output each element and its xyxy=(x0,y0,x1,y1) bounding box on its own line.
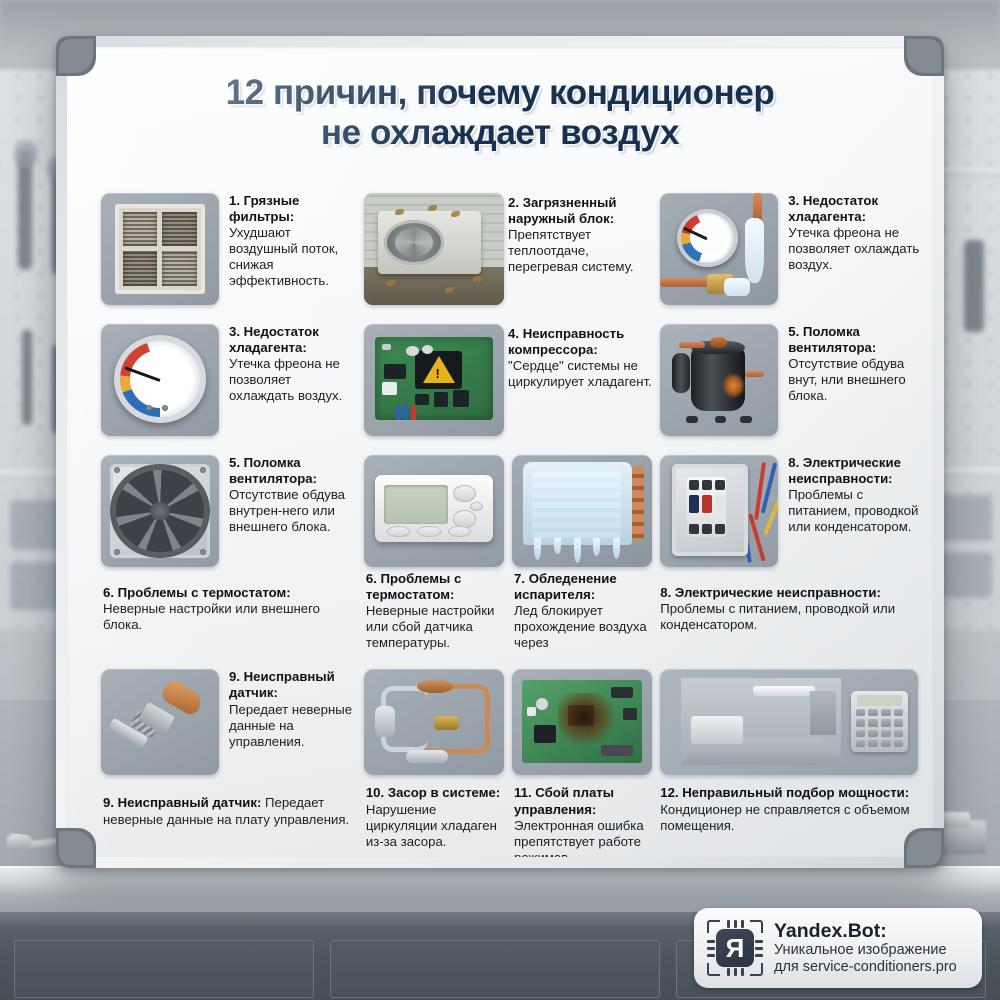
wrench-icon xyxy=(18,150,32,270)
thermostat-body xyxy=(375,475,493,542)
reason-text-2[interactable]: 2. Загрязненный наружный блок: Препятств… xyxy=(508,193,656,313)
capacitor xyxy=(536,698,548,710)
switch-lever[interactable] xyxy=(715,495,725,513)
terminal xyxy=(702,480,712,490)
chip-pin xyxy=(734,968,737,976)
chip-pin xyxy=(707,947,715,950)
reason-cell-7[interactable]: 7. Обледенение испарителя: Лед блокирует… xyxy=(508,455,656,651)
reason-cell-3b[interactable]: 3. Недостаток хладагента: Утечка фреона … xyxy=(97,324,360,444)
screwdriver-icon xyxy=(22,330,32,425)
cabinet-drawer xyxy=(330,940,660,998)
caption-heading: 6. Проблемы с термостатом: xyxy=(103,585,291,600)
mode-button[interactable] xyxy=(448,526,472,537)
connector xyxy=(382,344,391,350)
board-surface: 12 причин, почему кондиционер не охлажда… xyxy=(67,47,933,857)
fan-opening xyxy=(110,464,209,558)
ic-chip xyxy=(384,364,405,379)
grid-row-1: 1. Грязные фильтры: Ухудшают воздушный п… xyxy=(97,193,925,313)
yandex-bot-watermark: Я Yandex.Bot: Уникальное изображение для… xyxy=(694,908,982,988)
mount-screw xyxy=(114,549,120,555)
caption-heading: 10. Засор в системе: xyxy=(366,785,500,800)
calculator-key[interactable] xyxy=(881,709,891,716)
caption-body: Нарушение циркуляции хладаген из-за засо… xyxy=(366,802,497,849)
caption-body: Неверные настройки или сбой датчика темп… xyxy=(366,603,495,650)
caption-body: Проблемы с питанием, проводкой или конде… xyxy=(660,601,895,632)
reason-cell-6[interactable]: 6. Проблемы с термостатом: Неверные наст… xyxy=(360,455,508,651)
caption-heading: 9. Неисправный датчик: xyxy=(103,795,261,810)
calculator-key[interactable] xyxy=(856,719,866,726)
ic-chip xyxy=(434,392,448,407)
room-sizing-calculator-image xyxy=(660,669,918,775)
wire-red xyxy=(749,514,766,562)
mode-button[interactable] xyxy=(387,526,411,537)
filter-pane xyxy=(123,212,157,246)
reason-body: Проблемы с питанием, проводкой или конде… xyxy=(788,487,921,535)
calculator-key[interactable] xyxy=(881,730,891,737)
watermark-line-1: Уникальное изображение xyxy=(774,942,957,959)
thermostat-image xyxy=(364,455,504,567)
connector xyxy=(527,707,537,717)
reason-cell-8[interactable]: 8. Электрические неисправности: Проблемы… xyxy=(656,455,925,651)
switch-lever[interactable] xyxy=(702,495,712,513)
caption-body: Лед блокирует прохождение воздуха через xyxy=(514,603,647,650)
calculator-key[interactable] xyxy=(856,709,866,716)
terminal xyxy=(702,524,712,534)
reason-caption-11[interactable]: 11. Сбой платы управления: Электронная о… xyxy=(508,775,656,857)
reasons-grid: 1. Грязные фильтры: Ухудшают воздушный п… xyxy=(97,193,925,857)
reason-body: Отсутствие обдува внут, нли внешнего бло… xyxy=(788,356,921,404)
reason-body: Утечка фреона не позволяет охлаждать воз… xyxy=(229,356,356,404)
connector xyxy=(623,708,637,720)
frost-buildup xyxy=(745,218,764,283)
wire-blue xyxy=(396,405,401,420)
title-line-2: не охлаждает воздух xyxy=(67,113,933,153)
board-corner xyxy=(904,828,944,868)
yandex-bot-logo-icon: Я xyxy=(707,920,763,976)
chip-pin xyxy=(741,968,744,976)
compressor-foot xyxy=(686,416,698,423)
chip-pin xyxy=(727,920,730,928)
board-corner xyxy=(56,36,96,76)
dirty-outdoor-unit-image xyxy=(364,193,504,305)
title-line-1: 12 причин, почему кондиционер xyxy=(226,73,775,112)
workshop-scene: 12 причин, почему кондиционер не охлажда… xyxy=(0,0,1000,1000)
calculator-key[interactable] xyxy=(894,709,904,716)
reason-cell-5b[interactable]: 5. Поломка вентилятора: Отсутствие обдув… xyxy=(97,455,360,651)
chip-pin xyxy=(734,920,737,928)
reason-body: Препятствует теплоотдаче, перегревая сис… xyxy=(508,227,656,275)
calculator-key[interactable] xyxy=(894,740,904,747)
reason-caption-12[interactable]: 12. Неправильный подбор мощности: Кондиц… xyxy=(656,775,925,833)
service-valve xyxy=(434,716,459,730)
reason-caption-6-full[interactable]: 6. Проблемы с термостатом: Неверные наст… xyxy=(360,567,508,651)
reason-heading: 8. Электрические неисправности: xyxy=(788,455,921,486)
watermark-line-2: для service-conditioners.pro xyxy=(774,959,957,976)
wire-blue xyxy=(403,405,408,420)
frost-buildup xyxy=(724,278,750,296)
breaker-module xyxy=(687,477,726,538)
caption-heading: 11. Сбой платы управления: xyxy=(514,785,614,816)
compressor-foot xyxy=(715,416,727,423)
caption-body: Кондиционер не справляется с объемом пом… xyxy=(660,802,909,833)
reason-cell-12[interactable]: 12. Неправильный подбор мощности: Кондиц… xyxy=(656,669,925,857)
icicle xyxy=(593,538,600,556)
burn-damage xyxy=(558,693,616,746)
calculator-keypad[interactable] xyxy=(856,709,904,747)
connector xyxy=(382,382,397,395)
reason-heading: 3. Недостаток хладагента: xyxy=(229,324,356,355)
gauge-needle xyxy=(125,366,161,381)
copper-coil-pipe xyxy=(632,466,643,540)
compressor-burnt-image xyxy=(660,324,778,436)
calculator[interactable] xyxy=(851,691,908,752)
warning-triangle-icon xyxy=(423,356,455,383)
temperature-sensor-probe-image xyxy=(101,669,219,775)
reason-cell-11[interactable]: 11. Сбой платы управления: Электронная о… xyxy=(508,669,656,857)
reason-heading: 2. Загрязненный наружный блок: xyxy=(508,195,656,226)
gauge-screw xyxy=(162,405,168,411)
outdoor-unit-body xyxy=(378,211,482,274)
calculator-key[interactable] xyxy=(881,719,891,726)
fan-grille xyxy=(384,220,444,265)
burnt-control-board-image xyxy=(512,669,652,775)
reason-body: "Сердце" системы не циркулирует хладаген… xyxy=(508,358,656,390)
breaker-switches[interactable] xyxy=(689,495,725,513)
reason-caption-10[interactable]: 10. Засор в системе: Нарушение циркуляци… xyxy=(360,775,508,849)
copper-pipe xyxy=(745,371,764,377)
filter-drier xyxy=(375,706,395,738)
calculator-key[interactable] xyxy=(894,730,904,737)
icicle xyxy=(574,538,581,563)
calculator-key[interactable] xyxy=(868,719,878,726)
yandex-letter: Я xyxy=(716,929,754,967)
leaf xyxy=(395,209,404,215)
door xyxy=(810,691,836,736)
dirty-air-filter-image xyxy=(101,193,219,305)
calculator-key[interactable] xyxy=(894,719,904,726)
reason-caption-6[interactable]: 6. Проблемы с термостатом: Неверные наст… xyxy=(97,575,360,633)
calculator-key[interactable] xyxy=(868,740,878,747)
terminal xyxy=(689,480,699,490)
fan-hub xyxy=(150,502,170,521)
copper-ring xyxy=(710,337,728,347)
reason-caption-7[interactable]: 7. Обледенение испарителя: Лед блокирует… xyxy=(508,567,656,651)
outdoor-unit xyxy=(691,716,743,744)
capacitor xyxy=(406,346,419,357)
mount-screw xyxy=(200,549,206,555)
indoor-unit xyxy=(753,686,815,696)
reason-body: Утечка фреона не позволяет охлаждать воз… xyxy=(788,225,921,273)
terminal xyxy=(715,524,725,534)
watermark-text: Yandex.Bot: Уникальное изображение для s… xyxy=(774,920,957,976)
circuit-breaker-panel-image xyxy=(660,455,778,567)
board-corner xyxy=(904,36,944,76)
accumulator xyxy=(406,750,448,763)
wrench-icon xyxy=(14,140,38,168)
down-button[interactable] xyxy=(453,510,477,527)
gauge-dial xyxy=(677,209,738,267)
pcb xyxy=(522,680,642,763)
thermostat-screen xyxy=(384,485,448,524)
chip-pin xyxy=(755,947,763,950)
reason-cell-1[interactable]: 1. Грязные фильтры: Ухудшают воздушный п… xyxy=(97,193,360,313)
icicle xyxy=(534,538,541,560)
reason-image-2[interactable] xyxy=(360,193,508,313)
grid-row-2: 3. Недостаток хладагента: Утечка фреона … xyxy=(97,324,925,444)
reason-cell-10[interactable]: 10. Засор в системе: Нарушение циркуляци… xyxy=(360,669,508,857)
calculator-key[interactable] xyxy=(881,740,891,747)
reason-body: Ухудшают воздушный поток, снижая эффекти… xyxy=(229,225,356,289)
terminal xyxy=(689,524,699,534)
caption-heading: 6. Проблемы с термостатом: xyxy=(366,571,461,602)
caption-body: Электронная ошибка препятствует работе р… xyxy=(514,818,644,857)
wire-red xyxy=(411,405,416,420)
reason-heading: 5. Поломка вентилятора: xyxy=(788,324,921,355)
icicle xyxy=(613,538,620,559)
calculator-key[interactable] xyxy=(868,730,878,737)
breaker-terminals xyxy=(689,480,725,490)
control-board-warning-image xyxy=(364,324,504,436)
reason-heading: 1. Грязные фильтры: xyxy=(229,193,356,224)
reason-caption-8[interactable]: 8. Электрические неисправности: Проблемы… xyxy=(656,575,925,633)
reason-cell-5[interactable]: 5. Поломка вентилятора: Отсутствие обдув… xyxy=(656,324,925,444)
gauge-needle xyxy=(684,227,708,240)
reason-caption-9[interactable]: 9. Неисправный датчик: Передает неверные… xyxy=(97,783,360,827)
whiteboard: 12 причин, почему кондиционер не охлажда… xyxy=(56,36,944,868)
bracket-corner xyxy=(750,963,763,976)
refrigerant-circuit-loop-image xyxy=(364,669,504,775)
filter-pane xyxy=(123,251,157,285)
caption-heading: 8. Электрические неисправности: xyxy=(660,585,881,600)
indicator-dot xyxy=(470,502,483,511)
cabinet-drawer xyxy=(14,940,314,998)
mode-button[interactable] xyxy=(417,526,441,537)
burn-mark xyxy=(722,373,746,398)
compressor-foot xyxy=(740,416,752,423)
chip-pin xyxy=(727,968,730,976)
calculator-key[interactable] xyxy=(868,709,878,716)
copper-pipe xyxy=(679,342,705,348)
filter-frame xyxy=(115,204,205,294)
accumulator xyxy=(672,353,690,393)
reason-heading: 3. Недостаток хладагента: xyxy=(788,193,921,224)
grid-row-4: 9. Неисправный датчик: Передает неверные… xyxy=(97,669,925,857)
chip-pin xyxy=(755,954,763,957)
chip-pin xyxy=(707,954,715,957)
reason-heading: 9. Неисправный датчик: xyxy=(229,669,356,700)
manometer-dial-image xyxy=(101,324,219,436)
gauge-screw xyxy=(146,405,152,411)
caption-heading: 7. Обледенение испарителя: xyxy=(514,571,617,602)
caption-heading: 12. Неправильный подбор мощности: xyxy=(660,785,909,800)
connector-pins xyxy=(601,745,632,757)
reason-cell-9[interactable]: 9. Неисправный датчик: Передает неверные… xyxy=(97,669,360,857)
calculator-key[interactable] xyxy=(856,740,866,747)
ic-chip xyxy=(534,725,556,743)
calculator-display xyxy=(857,695,902,706)
filter-pane xyxy=(162,212,196,246)
page-title: 12 причин, почему кондиционер не охлажда… xyxy=(67,47,933,153)
filter-pane xyxy=(162,251,196,285)
reason-image-4[interactable] xyxy=(360,324,508,444)
terminal xyxy=(715,480,725,490)
calculator-key[interactable] xyxy=(856,730,866,737)
axial-fan-image xyxy=(101,455,219,567)
board-corner xyxy=(56,828,96,868)
reason-text-4[interactable]: 4. Неисправность компрессора: "Сердце" с… xyxy=(508,324,656,444)
reason-body: Отсутствие обдува внутрен-него или внешн… xyxy=(229,487,356,535)
up-button[interactable] xyxy=(453,485,477,502)
ic-chip xyxy=(415,394,429,406)
chip-pin xyxy=(755,940,763,943)
ice-layer xyxy=(523,462,632,545)
sight-glass xyxy=(417,680,453,693)
frozen-evaporator-coil-image xyxy=(512,455,652,567)
reason-heading: 5. Поломка вентилятора: xyxy=(229,455,356,486)
grid-row-3: 5. Поломка вентилятора: Отсутствие обдув… xyxy=(97,455,925,651)
pcb xyxy=(375,337,493,420)
watermark-title: Yandex.Bot: xyxy=(774,920,957,943)
breaker-terminals xyxy=(689,524,725,534)
leaf xyxy=(451,211,460,217)
chip-pin xyxy=(741,920,744,928)
breaker-enclosure xyxy=(672,464,748,556)
reason-cell-3[interactable]: 3. Недостаток хладагента: Утечка фреона … xyxy=(656,193,925,313)
workbench-top xyxy=(0,866,1000,914)
pliers-icon xyxy=(964,240,984,332)
caption-body: Неверные настройки или внешнего блока. xyxy=(103,601,320,632)
switch-lever[interactable] xyxy=(689,495,699,513)
gauge-dial xyxy=(114,335,206,422)
chip-pin xyxy=(707,940,715,943)
icicle xyxy=(554,538,561,554)
reason-heading: 4. Неисправность компрессора: xyxy=(508,326,656,357)
capacitor xyxy=(422,345,433,354)
pressure-gauge-frozen-pipe-image xyxy=(660,193,778,305)
ic-chip xyxy=(453,390,469,407)
warning-sign xyxy=(415,351,462,389)
reason-body: Передает неверные данные на управления. xyxy=(229,702,356,750)
